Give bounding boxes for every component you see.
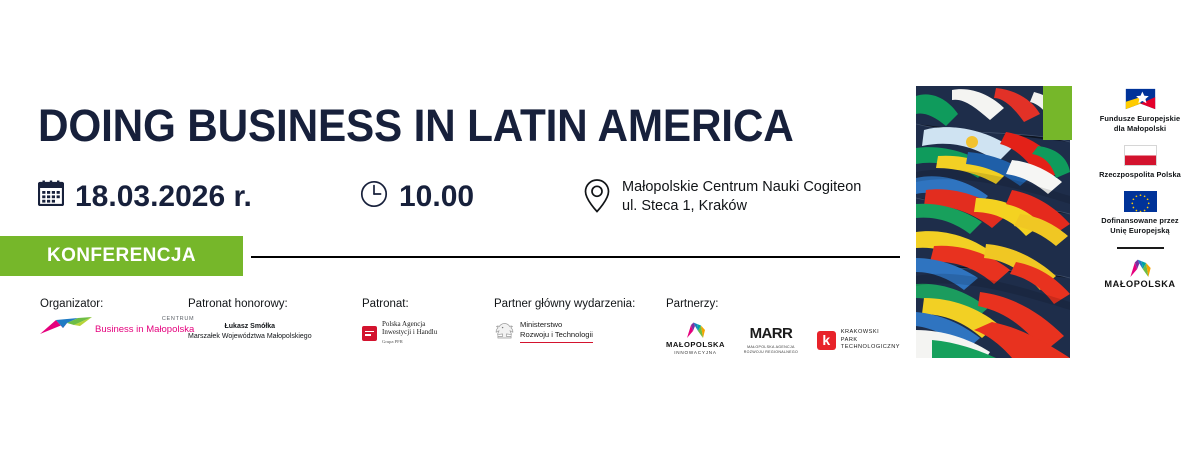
bim-logo-name: Business in Małopolska bbox=[95, 325, 194, 335]
partner-group-organizator: Organizator: CENTRUM Business in Małopol… bbox=[40, 298, 194, 334]
honorary-patron: Łukasz Smółka Marszałek Województwa Mało… bbox=[188, 322, 312, 342]
paih-mark-icon bbox=[362, 326, 377, 341]
ministry-line1: Ministerstwo bbox=[520, 320, 593, 330]
logo-marr: MARR MAŁOPOLSKA AGENCJA ROZWOJU REGIONAL… bbox=[737, 325, 805, 355]
clock-icon bbox=[360, 180, 388, 213]
logo-kpt: k KRAKOWSKI PARK TECHNOLOGICZNY bbox=[817, 329, 900, 352]
paih-sub: Grupa PFR bbox=[382, 338, 437, 346]
logo-rzeczpospolita-polska: Rzeczpospolita Polska bbox=[1088, 145, 1192, 180]
logo-paih: Polska Agencja Inwestycji i Handlu Grupa… bbox=[362, 320, 437, 346]
event-banner: DOING BUSINESS IN LATIN AMERICA bbox=[0, 0, 1200, 468]
paih-line1: Polska Agencja bbox=[382, 320, 437, 328]
honorary-patron-name: Łukasz Smółka bbox=[188, 322, 312, 332]
venue-name: Małopolskie Centrum Nauki Cogiteon bbox=[622, 178, 861, 197]
eu-funds-label-line1: Fundusze Europejskie bbox=[1088, 114, 1192, 124]
eu-funds-label-line2: dla Małopolski bbox=[1088, 124, 1192, 134]
event-time: 10.00 bbox=[360, 180, 474, 214]
malopolska-label: MAŁOPOLSKA bbox=[1088, 279, 1192, 289]
bim-logo-top: CENTRUM bbox=[95, 317, 194, 323]
eu-cofinance-line1: Dofinansowane przez bbox=[1088, 216, 1192, 226]
green-accent-block bbox=[1043, 86, 1072, 140]
kpt-mark-icon: k bbox=[817, 331, 836, 350]
calendar-icon bbox=[38, 180, 64, 211]
paih-line2: Inwestycji i Handlu bbox=[382, 328, 437, 336]
logo-malopolska: MAŁOPOLSKA bbox=[1088, 259, 1192, 289]
malopolska-innowacyjna-sub: INNOWACYJNA bbox=[666, 350, 725, 355]
logo-fundusze-europejskie: Fundusze Europejskie dla Małopolski bbox=[1088, 88, 1192, 134]
honorary-patron-role: Marszałek Województwa Małopolskiego bbox=[188, 332, 312, 342]
eu-funds-star-icon bbox=[1124, 88, 1157, 110]
malopolska-m-icon bbox=[1088, 259, 1192, 277]
partner-group-label: Patronat honorowy: bbox=[188, 298, 312, 310]
logo-business-in-malopolska: CENTRUM Business in Małopolska bbox=[40, 316, 194, 334]
logo-unia-europejska: Dofinansowane przez Unię Europejską bbox=[1088, 191, 1192, 236]
partner-group-main: Partner główny wydarzenia: Ministerstwo … bbox=[494, 298, 635, 343]
partner-group-label: Patronat: bbox=[362, 298, 437, 310]
badge-label: KONFERENCJA bbox=[47, 245, 196, 267]
event-time-value: 10.00 bbox=[399, 180, 474, 214]
partner-group-partners: Partnerzy: MAŁOPOLSKA INN bbox=[666, 298, 900, 355]
logo-ministry: Ministerstwo Rozwoju i Technologii bbox=[494, 320, 635, 343]
ministry-line2: Rozwoju i Technologii bbox=[520, 330, 593, 340]
marr-sub: MAŁOPOLSKA AGENCJA ROZWOJU REGIONALNEGO bbox=[737, 345, 805, 355]
event-date-value: 18.03.2026 r. bbox=[75, 180, 252, 214]
kpt-line2: PARK bbox=[841, 337, 900, 345]
kpt-line1: KRAKOWSKI bbox=[841, 329, 900, 337]
malopolska-m-icon bbox=[666, 322, 725, 338]
event-date: 18.03.2026 r. bbox=[38, 180, 252, 214]
venue-address: ul. Steca 1, Kraków bbox=[622, 197, 861, 216]
bim-swoosh-icon bbox=[40, 316, 92, 334]
eu-funding-column: Fundusze Europejskie dla Małopolski Rzec… bbox=[1088, 88, 1192, 289]
partner-group-label: Partnerzy: bbox=[666, 298, 900, 310]
partner-group-label: Organizator: bbox=[40, 298, 194, 310]
divider-rule bbox=[251, 256, 900, 258]
marr-name: MARR bbox=[750, 326, 793, 341]
partner-strip: Organizator: CENTRUM Business in Małopol… bbox=[0, 298, 900, 364]
poland-label: Rzeczpospolita Polska bbox=[1088, 170, 1192, 180]
partner-group-patronage: Patronat: Polska Agencja Inwestycji i Ha… bbox=[362, 298, 437, 346]
status-badge: KONFERENCJA bbox=[0, 236, 243, 276]
funding-divider bbox=[1117, 247, 1164, 249]
partner-group-label: Partner główny wydarzenia: bbox=[494, 298, 635, 310]
logo-malopolska-innowacyjna: MAŁOPOLSKA INNOWACYJNA bbox=[666, 322, 725, 355]
page-title: DOING BUSINESS IN LATIN AMERICA bbox=[38, 100, 794, 152]
malopolska-innowacyjna-name: MAŁOPOLSKA bbox=[666, 340, 725, 349]
polish-eagle-icon bbox=[494, 321, 515, 342]
eu-cofinance-line2: Unię Europejską bbox=[1088, 226, 1192, 236]
partner-group-honorary: Patronat honorowy: Łukasz Smółka Marszał… bbox=[188, 298, 312, 342]
location-pin-icon bbox=[583, 178, 611, 219]
eu-flag-icon bbox=[1124, 191, 1157, 212]
event-location: Małopolskie Centrum Nauki Cogiteon ul. S… bbox=[583, 178, 861, 219]
polish-flag-icon bbox=[1124, 145, 1157, 166]
kpt-line3: TECHNOLOGICZNY bbox=[841, 344, 900, 352]
